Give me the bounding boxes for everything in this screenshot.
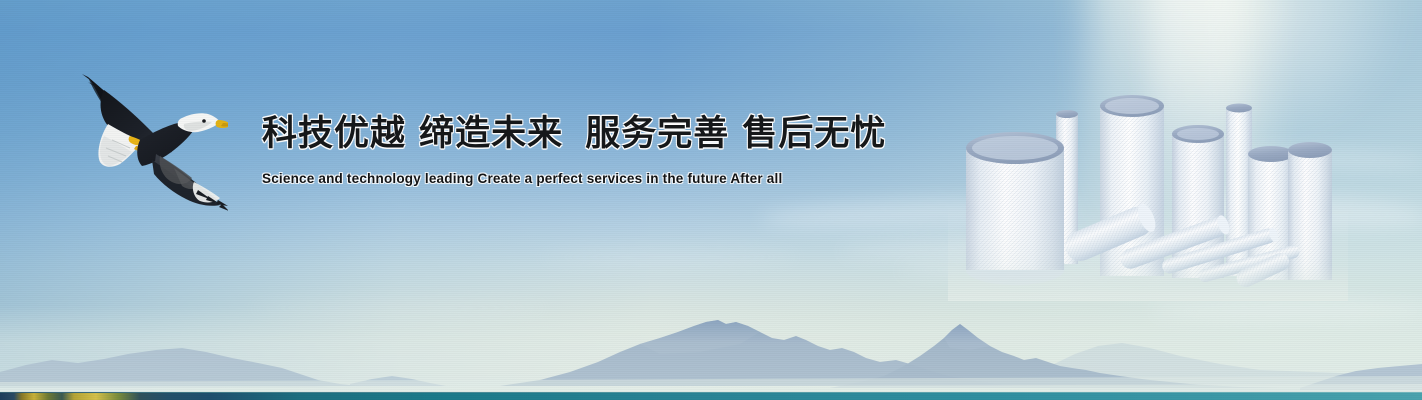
bottom-image-sliver (0, 393, 1422, 400)
light-beam-icon (1088, 0, 1268, 290)
cartridge-lying-small (1197, 244, 1301, 283)
cloud-wisp (900, 262, 1200, 278)
cloud-wisp (1189, 190, 1422, 233)
eagle-image (78, 56, 228, 226)
light-beam-secondary-icon (1150, 0, 1240, 270)
headline: 科技优越 缔造未来服务完善 售后无忧 (262, 112, 802, 156)
mountain-range (0, 280, 1422, 400)
cartridge-wide-short (966, 132, 1064, 285)
cloud-wisp (840, 231, 1260, 262)
cloud-wisp (540, 250, 800, 264)
cartridge-lying-thick (1061, 201, 1159, 265)
subtitle: Science and technology leading Create a … (262, 170, 802, 188)
cartridge-large-center (1100, 95, 1164, 276)
horizon-haze (0, 305, 1422, 400)
cartridge-lying-medium (1118, 214, 1232, 272)
film-grain-overlay (0, 0, 1422, 400)
promotional-banner: 科技优越 缔造未来服务完善 售后无忧 Science and technolog… (0, 0, 1422, 400)
cloud-wisp (250, 300, 550, 316)
cartridge-lying-thin (1160, 226, 1279, 276)
cartridge-mid-center-right (1172, 125, 1224, 278)
filter-cartridge-product-image (948, 86, 1348, 301)
sky-horizontal-wash (0, 0, 1422, 400)
headline-part-2: 服务完善 售后无忧 (585, 114, 886, 154)
cartridge-right-b (1288, 142, 1332, 280)
cloud-wisp (1150, 300, 1422, 322)
cartridge-tall-slim (1056, 110, 1078, 264)
cartridge-tall-slim-right (1226, 104, 1252, 277)
cloud-wisp (1230, 147, 1422, 172)
cartridge-lying-short (1234, 250, 1292, 290)
cartridge-right-a (1248, 146, 1294, 280)
headline-part-1: 科技优越 缔造未来 (262, 114, 563, 154)
sun-glow (1110, 0, 1410, 140)
cloud-wisp (760, 194, 1081, 231)
banner-text-block: 科技优越 缔造未来服务完善 售后无忧 Science and technolog… (262, 112, 802, 188)
